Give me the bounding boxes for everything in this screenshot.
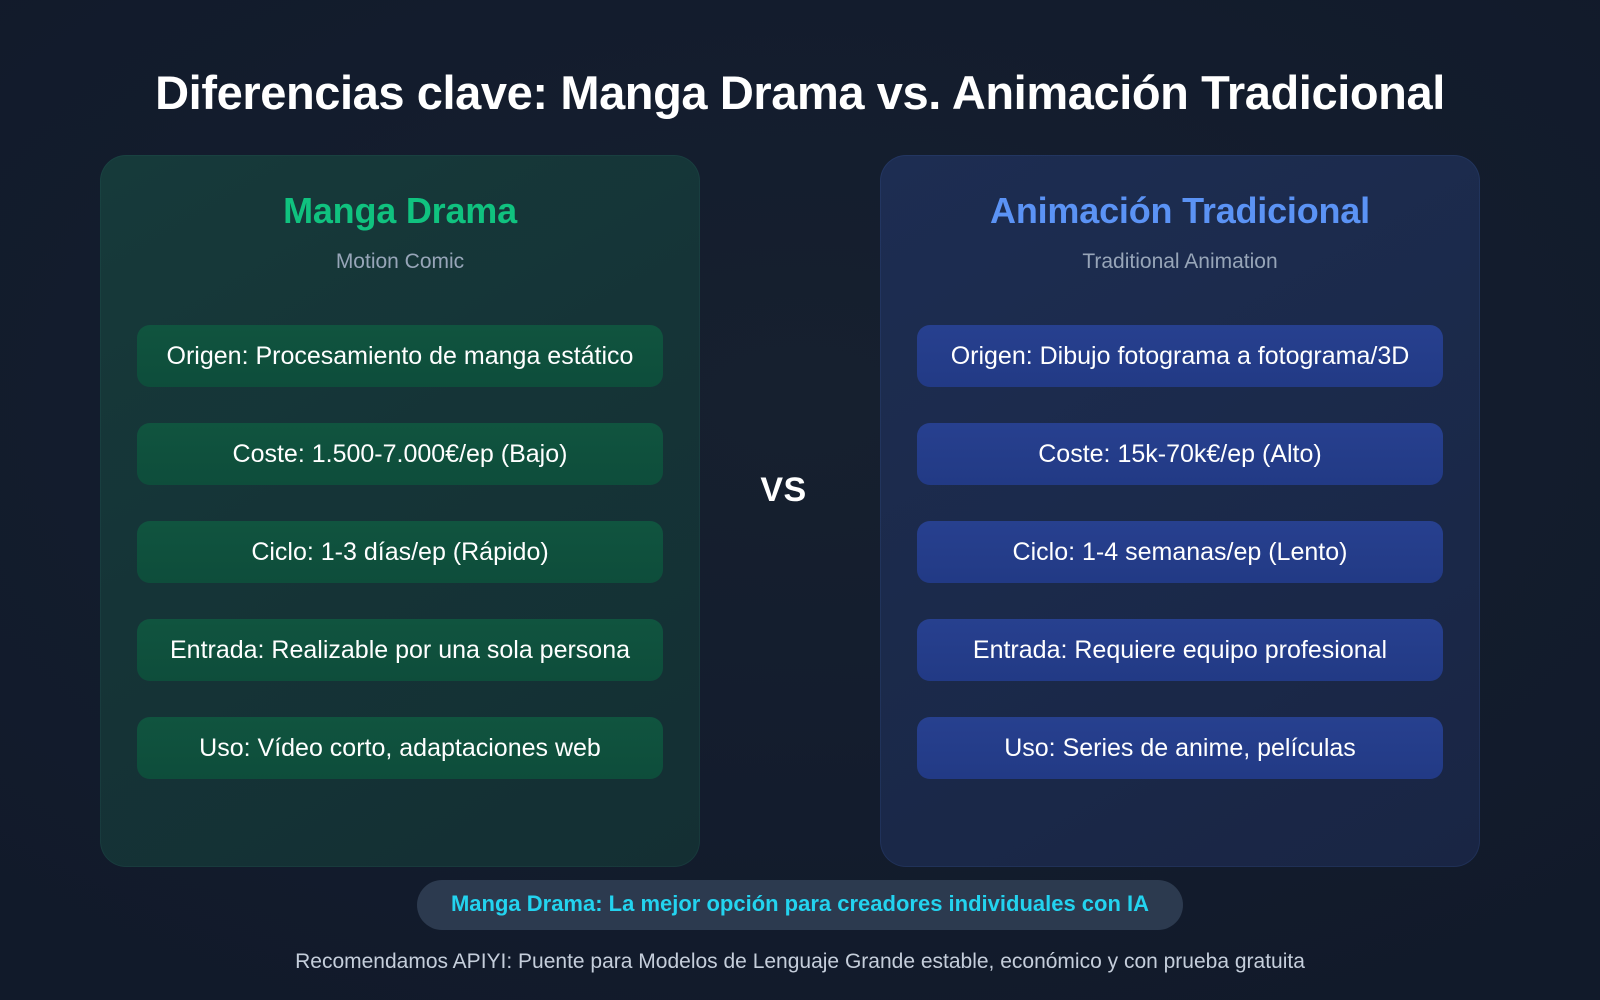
- page-title: Diferencias clave: Manga Drama vs. Anima…: [0, 65, 1600, 120]
- feature-text: Ciclo: 1-4 semanas/ep (Lento): [1013, 540, 1348, 565]
- card-title-left: Manga Drama: [100, 155, 700, 231]
- feature-text: Coste: 1.500-7.000€/ep (Bajo): [233, 442, 568, 467]
- conclusion-badge: Manga Drama: La mejor opción para creado…: [417, 880, 1183, 930]
- footer-note: Recomendamos APIYI: Puente para Modelos …: [0, 930, 1600, 972]
- card-subtitle-right: Traditional Animation: [880, 231, 1480, 273]
- feature-text: Origen: Procesamiento de manga estático: [167, 344, 634, 369]
- feature-text: Entrada: Requiere equipo profesional: [973, 638, 1387, 663]
- feature-item: Coste: 1.500-7.000€/ep (Bajo): [137, 423, 663, 485]
- feature-item: Entrada: Requiere equipo profesional: [917, 619, 1443, 681]
- comparison-card-manga-drama: Manga Drama Motion Comic Origen: Procesa…: [100, 155, 700, 867]
- feature-item: Entrada: Realizable por una sola persona: [137, 619, 663, 681]
- feature-text: Ciclo: 1-3 días/ep (Rápido): [251, 540, 548, 565]
- card-subtitle-left: Motion Comic: [100, 231, 700, 273]
- feature-item: Uso: Vídeo corto, adaptaciones web: [137, 717, 663, 779]
- card-title-right: Animación Tradicional: [880, 155, 1480, 231]
- comparison-card-animacion-tradicional: Animación Tradicional Traditional Animat…: [880, 155, 1480, 867]
- feature-text: Origen: Dibujo fotograma a fotograma/3D: [951, 344, 1410, 369]
- feature-list-left: Origen: Procesamiento de manga estático …: [137, 325, 663, 779]
- feature-text: Coste: 15k-70k€/ep (Alto): [1038, 442, 1321, 467]
- versus-label: VS: [760, 471, 806, 510]
- versus-badge: VS: [718, 425, 849, 556]
- feature-item: Coste: 15k-70k€/ep (Alto): [917, 423, 1443, 485]
- feature-text: Uso: Vídeo corto, adaptaciones web: [199, 736, 601, 761]
- feature-item: Ciclo: 1-3 días/ep (Rápido): [137, 521, 663, 583]
- feature-list-right: Origen: Dibujo fotograma a fotograma/3D …: [917, 325, 1443, 779]
- feature-text: Uso: Series de anime, películas: [1004, 736, 1356, 761]
- feature-item: Origen: Procesamiento de manga estático: [137, 325, 663, 387]
- feature-item: Uso: Series de anime, películas: [917, 717, 1443, 779]
- feature-text: Entrada: Realizable por una sola persona: [170, 638, 630, 663]
- feature-item: Origen: Dibujo fotograma a fotograma/3D: [917, 325, 1443, 387]
- footer: Manga Drama: La mejor opción para creado…: [0, 880, 1600, 972]
- feature-item: Ciclo: 1-4 semanas/ep (Lento): [917, 521, 1443, 583]
- infographic-canvas: Diferencias clave: Manga Drama vs. Anima…: [0, 0, 1600, 1000]
